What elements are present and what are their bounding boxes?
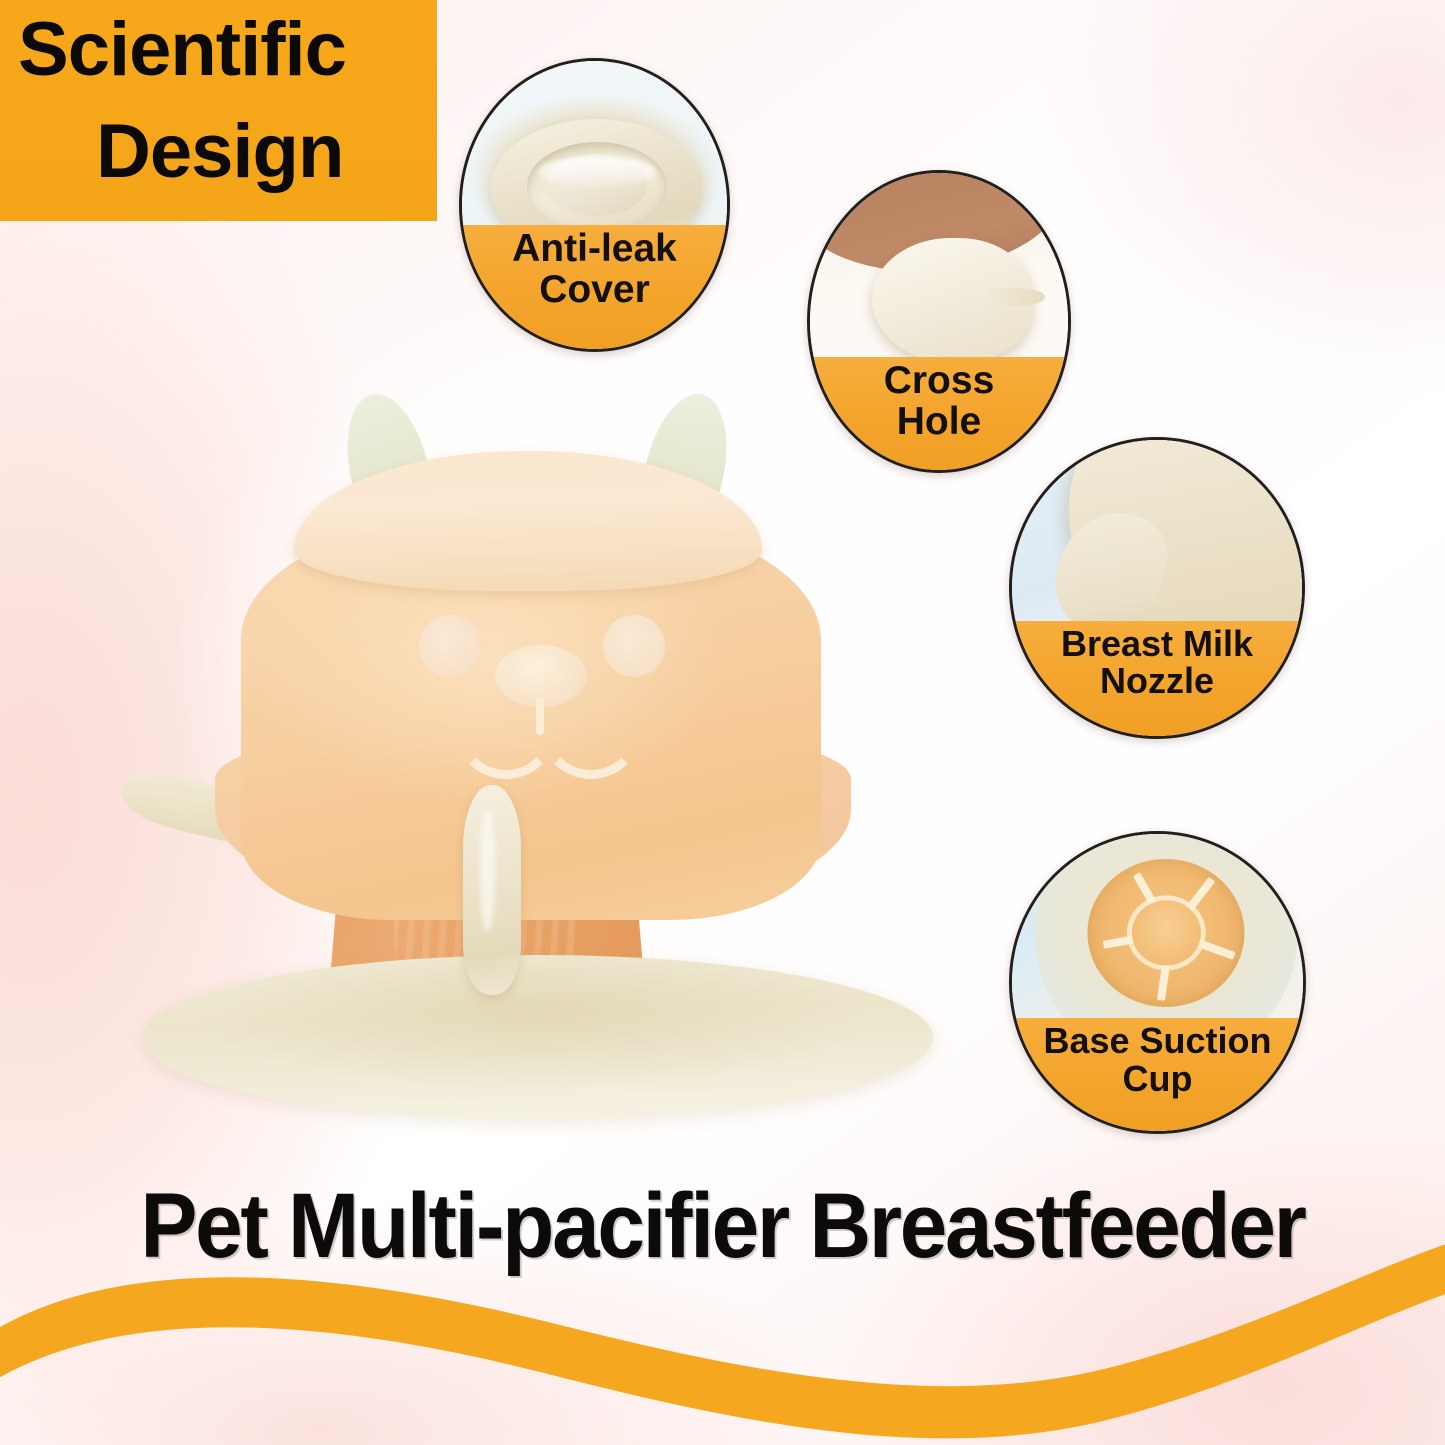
banner-line-1: Scientific — [18, 12, 346, 88]
cat-cheek-right — [603, 615, 665, 677]
product-infographic: Scientific Design — [0, 0, 1445, 1445]
anti-leak-cover-label-line2: Cover — [539, 270, 650, 311]
base-suction-cup-label-band: Base Suction Cup — [1012, 1018, 1303, 1131]
feature-callout-base-suction-cup[interactable]: Base Suction Cup — [1009, 831, 1306, 1134]
banner-line-2: Design — [96, 114, 343, 190]
base-suction-cup-label-line1: Base Suction — [1043, 1022, 1271, 1059]
breast-milk-nozzle-label-line1: Breast Milk — [1061, 625, 1253, 662]
product-title: Pet Multi-pacifier Breastfeeder — [51, 1174, 1395, 1279]
cover-highlight — [538, 157, 657, 187]
nipple-tail — [990, 288, 1044, 305]
cross-hole-label-line2: Hole — [897, 402, 982, 443]
cross-hole-label-line1: Cross — [884, 361, 995, 402]
front-nozzle-highlight — [480, 810, 495, 932]
feature-callout-anti-leak-cover[interactable]: Anti-leak Cover — [459, 58, 730, 352]
front-nozzle — [463, 785, 521, 995]
nipple-squeeze-icon — [872, 238, 1032, 363]
anti-leak-cover-label-line1: Anti-leak — [512, 229, 677, 270]
product-suction-base — [143, 955, 933, 1120]
anti-leak-cover-label-band: Anti-leak Cover — [462, 225, 727, 349]
cat-cheek-left — [419, 615, 481, 677]
suction-cup-hub-icon — [1088, 859, 1245, 1007]
feature-callout-breast-milk-nozzle[interactable]: Breast Milk Nozzle — [1009, 437, 1305, 739]
cat-mouth-arc-right — [539, 699, 643, 779]
scientific-design-banner: Scientific Design — [0, 0, 437, 221]
suction-cup-core-icon — [1132, 900, 1201, 965]
product-image — [95, 385, 975, 1145]
breast-milk-nozzle-label-line2: Nozzle — [1100, 662, 1214, 699]
base-suction-cup-label-line2: Cup — [1123, 1060, 1193, 1097]
feature-callout-cross-hole[interactable]: Cross Hole — [807, 170, 1071, 473]
breast-milk-nozzle-label-band: Breast Milk Nozzle — [1012, 621, 1302, 736]
